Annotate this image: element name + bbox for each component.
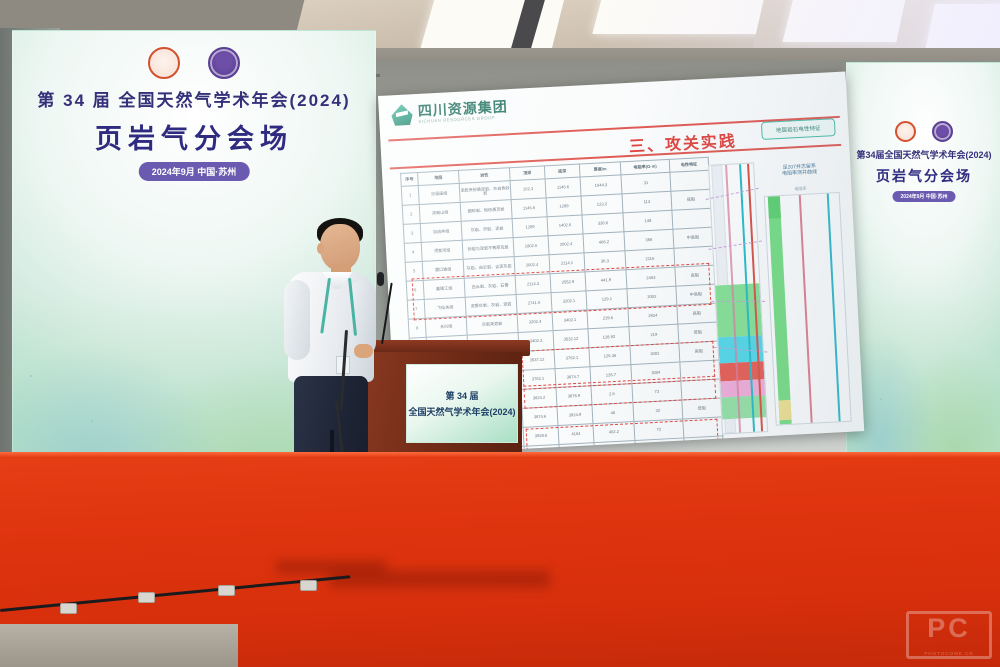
cable-clip-4: [300, 580, 317, 591]
banner-landscape-art-right: [847, 289, 1000, 467]
table-cell: 123.2: [581, 194, 623, 215]
table-cell: 3004: [631, 362, 681, 384]
table-col-header: 序号: [401, 173, 419, 187]
table-cell: 沙溪庙组: [418, 183, 460, 204]
table-cell: 2403: [626, 267, 676, 289]
table-cell: 自流井组: [420, 221, 462, 242]
table-cell: 1: [401, 186, 419, 206]
table-cell: 3532.12: [553, 329, 589, 350]
table-cell: 5: [405, 261, 423, 281]
table-cell: 113: [622, 191, 672, 213]
cable-clip-1: [60, 603, 77, 614]
table-cell: 356: [624, 229, 674, 251]
table-cell: 3202.1: [551, 291, 587, 312]
table-cell: 2114.3: [515, 274, 551, 295]
table-cell: 336.6: [582, 213, 624, 234]
table-cell: 3: [403, 223, 421, 243]
table-cell: 1402.6: [547, 215, 583, 236]
table-cell: 406.2: [583, 232, 625, 253]
table-cell: 4: [404, 242, 422, 262]
table-cell: [670, 170, 710, 191]
table-cell: 4104: [558, 424, 594, 445]
cable-clip-3: [218, 585, 235, 596]
society-circle-emblem: [208, 47, 240, 79]
table-cell: 1289: [512, 217, 548, 238]
table-cell: 长兴组: [425, 316, 467, 337]
table-cell: 6: [406, 280, 424, 300]
table-cell: 1146.6: [511, 198, 547, 219]
banner-conference-title-right: 第34届全国天然气学术年会(2024): [847, 148, 1000, 161]
table-cell: 低阻: [678, 322, 718, 343]
table-cell: [680, 360, 720, 381]
table-cell: 128.92: [588, 327, 630, 348]
table-cell: 2: [402, 204, 420, 224]
table-cell: 2741.6: [516, 293, 552, 314]
podium-sign: 第 34 届 全国天然气学术年会(2024): [406, 364, 518, 443]
table-cell: 雷口坡组: [422, 259, 464, 280]
table-cell: 凉高山组: [419, 202, 461, 223]
table-cell: 3402.1: [552, 310, 588, 331]
table-cell: 72: [634, 419, 684, 441]
table-cell: 嘉陵江组: [423, 278, 465, 299]
table-cell: 36.3: [584, 251, 626, 272]
speaker-hand: [354, 344, 373, 358]
table-cell: 3002: [630, 343, 680, 365]
table-cell: 8: [408, 318, 426, 338]
right-stage-banner: 第34届全国天然气学术年会(2024) 页岩气分会场 2024年9月 中国·苏州: [846, 62, 1000, 468]
cnpc-circle-emblem-right: [895, 121, 916, 142]
table-cell: 高阻: [675, 265, 715, 286]
table-cell: 2924: [628, 305, 678, 327]
table-cell: 3762.1: [554, 348, 590, 369]
table-cell: 飞仙关组: [424, 297, 466, 318]
table-cell: 须家河组: [421, 240, 463, 261]
table-cell: 73: [632, 381, 682, 403]
hall-floor: [0, 624, 238, 667]
table-cell: 1044.3: [580, 175, 622, 196]
table-cell: 低阻: [671, 189, 711, 210]
table-cell: 32: [633, 400, 683, 422]
sichuan-resources-logo-icon: [390, 103, 413, 126]
table-cell: 31: [621, 172, 671, 194]
podium-sign-line2: 全国天然气学术年会(2024): [408, 405, 515, 418]
speaker-ear: [317, 243, 324, 254]
banner-conference-title: 第 34 届 全国天然气学术年会(2024): [13, 86, 375, 111]
table-cell: 2002.4: [514, 255, 550, 276]
table-cell: 129.1: [586, 289, 628, 310]
banner-date-pill: 2024年9月 中国·苏州: [139, 162, 250, 181]
log-figure-title: 足207井志留系电阻率测井曲线: [760, 162, 839, 179]
table-cell: 129.36: [589, 346, 631, 367]
table-cell: 1146.6: [545, 177, 581, 198]
table-cell: 3874.7: [555, 367, 591, 388]
resistivity-log-figure: 足207井志留系电阻率测井曲线 电阻率: [760, 158, 852, 430]
table-cell: 441.9: [585, 270, 627, 291]
table-cell: 219.6: [587, 308, 629, 329]
banner-date-pill-right: 2024年9月 中国·苏州: [893, 191, 956, 202]
table-cell: 1289: [546, 196, 582, 217]
society-circle-emblem-right: [932, 121, 953, 142]
table-cell: [681, 379, 721, 400]
table-cell: 高阻: [679, 341, 719, 362]
speaker-left-arm: [284, 280, 310, 360]
table-cell: 46: [592, 403, 634, 424]
watermark-text: PC: [906, 613, 992, 644]
conference-photo: 第 34 届 全国天然气学术年会(2024) 页岩气分会场 2024年9月 中国…: [0, 0, 1000, 667]
callout-box: 地层岩石电性特征: [761, 118, 836, 140]
watermark: PC PHOTOCOME.CN: [906, 611, 992, 659]
table-cell: 3876.9: [556, 386, 592, 407]
company-logo: 四川资源集团 SICHUAN RESOURCES GROUP: [390, 98, 508, 126]
table-cell: 2002.4: [548, 234, 584, 255]
table-cell: 2114.1: [549, 253, 585, 274]
banner-session-title-right: 页岩气分会场: [847, 166, 1000, 186]
table-cell: 中高阻: [676, 284, 716, 305]
table-cell: 高阻: [677, 303, 717, 324]
banner-session-title: 页岩气分会场: [13, 117, 375, 156]
table-cell: 2552.9: [550, 272, 586, 293]
banner-emblems: [13, 47, 375, 79]
carpet-front-edge: [0, 452, 1000, 458]
table-cell: 3924.9: [557, 405, 593, 426]
table-cell: 2002: [627, 286, 677, 308]
table-cell: 中高阻: [673, 227, 713, 248]
table-cell: 402.2: [593, 422, 635, 443]
table-cell: 102.3: [510, 179, 546, 200]
table-cell: 低阻: [682, 398, 722, 419]
banner-emblems-right: [847, 121, 1000, 142]
table-cell: [672, 208, 712, 229]
table-cell: 148: [623, 210, 673, 232]
table-cell: [683, 417, 723, 438]
table-cell: 2116: [625, 248, 675, 270]
table-cell: 2.6: [591, 384, 633, 405]
cable-clip-2: [138, 592, 155, 603]
podium-sign-line1: 第 34 届: [445, 389, 478, 402]
table-cell: 3202.4: [517, 312, 553, 333]
table-cell: 128.7: [590, 365, 632, 386]
cnpc-circle-emblem: [148, 47, 180, 79]
table-cell: 7: [407, 299, 425, 319]
table-cell: 219: [629, 324, 679, 346]
watermark-subtext: PHOTOCOME.CN: [906, 651, 992, 656]
table-cell: 1802.6: [513, 236, 549, 257]
